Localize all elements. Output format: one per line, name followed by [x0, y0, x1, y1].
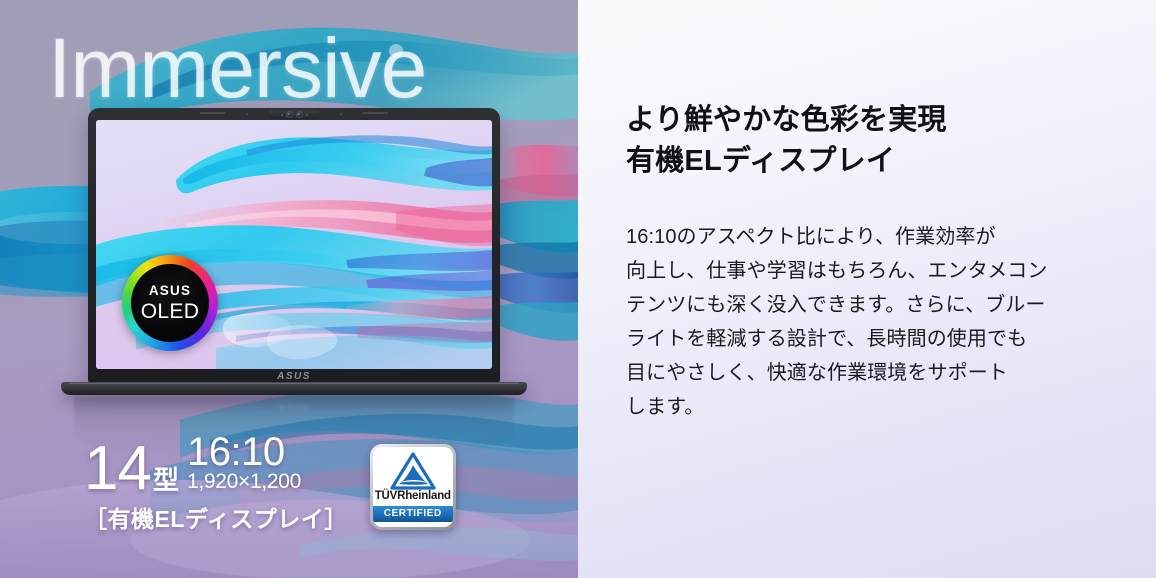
- laptop-lid: ASUS OLED ASUS: [88, 108, 500, 383]
- right-copy-panel: より鮮やかな色彩を実現 有機ELディスプレイ 16:10のアスペクト比により、作…: [578, 0, 1156, 578]
- spec-text-block: 14 型 16:10 1,920×1,200 ［有機ELディスプレイ］: [84, 434, 348, 534]
- spec-callout-group: 14 型 16:10 1,920×1,200 ［有機ELディスプレイ］: [84, 434, 456, 534]
- aspect-ratio-value: 16:10: [187, 434, 285, 471]
- asus-oled-badge: ASUS OLED: [122, 255, 218, 351]
- tuv-brand-text: TÜVRheinland: [375, 490, 451, 502]
- hero-headline-immersive: Immersive: [48, 26, 426, 110]
- oled-badge-tech: OLED: [141, 301, 199, 322]
- aspect-ratio-group: 16:10 1,920×1,200: [187, 434, 301, 493]
- section-headline: より鮮やかな色彩を実現 有機ELディスプレイ: [626, 100, 1102, 182]
- body-line-3: テンツにも深く没入できます。さらに、ブルー: [626, 288, 1102, 322]
- screen-size-unit: 型: [153, 467, 179, 493]
- body-line-4: ライトを軽減する設計で、長時間の使用でも: [626, 322, 1102, 356]
- left-visual-panel: Immersive: [0, 0, 578, 578]
- speaker-slot-left: [200, 112, 226, 114]
- product-banner: Immersive: [0, 0, 1156, 578]
- laptop-screen: ASUS OLED: [96, 120, 492, 369]
- microphone-left-icon: [246, 113, 248, 115]
- status-led-icon: [306, 114, 308, 116]
- oled-badge-brand: ASUS: [149, 284, 191, 298]
- webcam-lens-icon: [286, 111, 293, 118]
- body-line-5: 目にやさしく、快適な作業環境をサポート: [626, 356, 1102, 390]
- ir-sensor-icon: [281, 114, 283, 116]
- body-line-2: 向上し、仕事や学習はもちろん、エンタメコン: [626, 254, 1102, 288]
- laptop-base: [61, 382, 527, 395]
- spec-primary-row: 14 型 16:10 1,920×1,200: [84, 434, 348, 495]
- headline-line-2: 有機ELディスプレイ: [626, 141, 1102, 182]
- tuv-rheinland-certified-badge: TÜVRheinland ® CERTIFIED: [370, 444, 456, 530]
- laptop-product-image: ASUS OLED ASUS ASUS: [88, 108, 500, 459]
- speaker-slot-right: [362, 112, 388, 114]
- body-line-1: 16:10のアスペクト比により、作業効率が: [626, 220, 1102, 254]
- ir-camera-lens-icon: [296, 111, 303, 118]
- reflection-brand-logo: ASUS: [74, 403, 514, 413]
- body-line-6: します。: [626, 390, 1102, 424]
- screen-size-number: 14: [84, 442, 151, 495]
- tuv-certified-label: CERTIFIED: [373, 506, 453, 523]
- screen-size-group: 14 型: [84, 442, 179, 495]
- laptop-bezel-brand-logo: ASUS: [88, 371, 500, 382]
- tuv-brand-name: TÜVRheinland ®: [375, 491, 451, 503]
- webcam-module: [269, 110, 319, 119]
- resolution-value: 1,920×1,200: [187, 471, 301, 493]
- tuv-triangle-icon: [390, 452, 436, 490]
- tuv-badge-inner: TÜVRheinland ® CERTIFIED: [373, 447, 453, 527]
- asus-oled-badge-inner: ASUS OLED: [131, 264, 209, 342]
- headline-line-1: より鮮やかな色彩を実現: [626, 100, 1102, 141]
- microphone-right-icon: [340, 113, 342, 115]
- section-body-copy: 16:10のアスペクト比により、作業効率が 向上し、仕事や学習はもちろん、エンタ…: [626, 220, 1102, 424]
- display-type-label: ［有機ELディスプレイ］: [84, 500, 348, 534]
